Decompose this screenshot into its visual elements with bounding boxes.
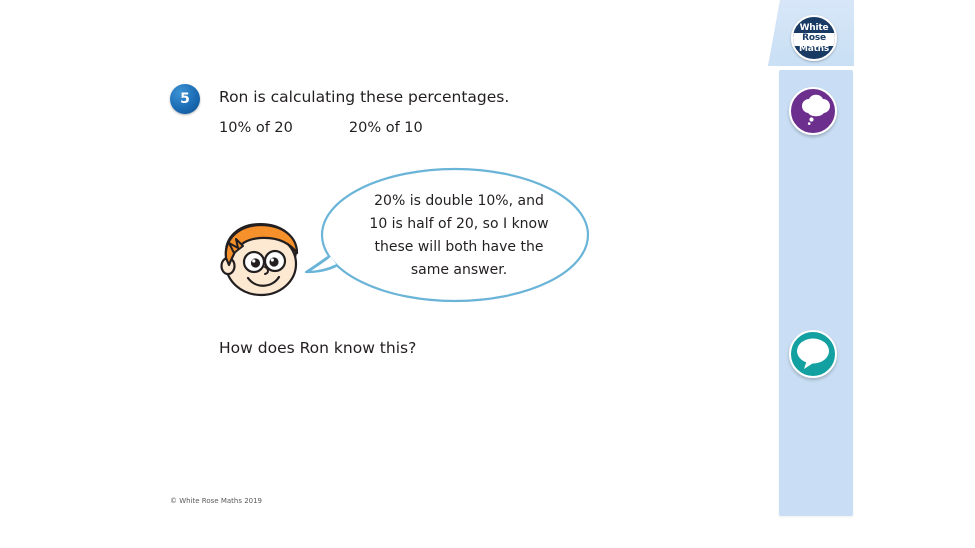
bubble-line-2: 10 is half of 20, so I know (346, 213, 572, 236)
character-ron (210, 212, 310, 312)
thought-bubble-icon[interactable] (789, 87, 837, 135)
speech-bubble-icon[interactable] (789, 330, 837, 378)
slide-canvas: White Rose Maths 5 Ron is calculating th… (0, 0, 975, 548)
speech-bubble-text: 20% is double 10%, and 10 is half of 20,… (346, 190, 572, 282)
bubble-line-4: same answer. (346, 259, 572, 282)
calculation-right: 20% of 10 (349, 120, 423, 136)
thought-bubble-icon-disc (789, 87, 837, 135)
copyright-notice: © White Rose Maths 2019 (170, 497, 262, 505)
speech-bubble-icon-disc (789, 330, 837, 378)
logo-line-1: White (800, 23, 829, 33)
white-rose-maths-logo[interactable]: White Rose Maths (791, 15, 837, 61)
logo-line-2: Rose (802, 33, 826, 44)
speech-bubble: 20% is double 10%, and 10 is half of 20,… (300, 160, 610, 320)
bubble-line-3: these will both have the (346, 236, 572, 259)
question-prompt: How does Ron know this? (219, 339, 416, 357)
question-number-badge: 5 (170, 84, 200, 114)
calculation-left: 10% of 20 (219, 120, 293, 136)
sidebar-panel (779, 70, 853, 516)
logo-line-3: Maths (799, 44, 829, 54)
bubble-line-1: 20% is double 10%, and (346, 190, 572, 213)
question-stem: Ron is calculating these percentages. (219, 88, 509, 106)
calculations-row: 10% of 2020% of 10 (219, 120, 423, 136)
